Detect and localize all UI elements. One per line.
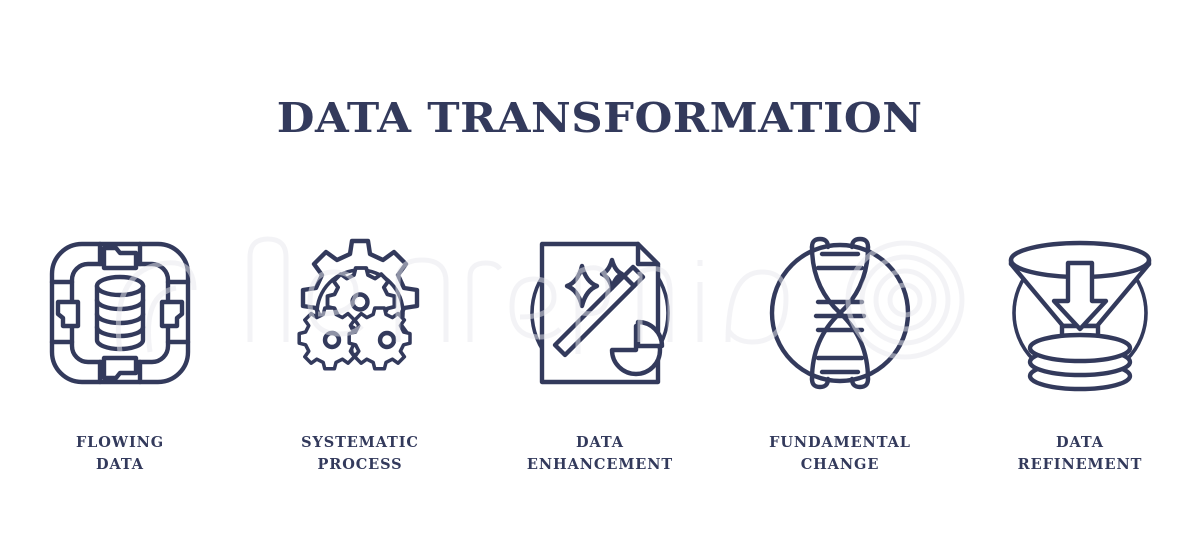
data-enhancement-magic-wand-document-icon [520, 230, 680, 395]
icon-row [0, 222, 1200, 402]
data-refinement-funnel-icon [1000, 230, 1160, 395]
flowing-data-icon [40, 230, 200, 395]
infographic-canvas: DATA TRANSFORMATION [0, 0, 1200, 540]
label-row: FLOWING DATA SYSTEMATIC PROCESS DATA ENH… [0, 432, 1200, 477]
label-line-1: FLOWING [0, 432, 240, 454]
title-container: DATA TRANSFORMATION [0, 98, 1200, 139]
item-data-refinement[interactable] [960, 222, 1200, 402]
label-flowing-data: FLOWING DATA [0, 432, 240, 477]
label-line-1: FUNDAMENTAL [720, 432, 960, 454]
item-systematic-process[interactable] [240, 222, 480, 402]
label-line-2: ENHANCEMENT [480, 454, 720, 476]
label-line-2: REFINEMENT [960, 454, 1200, 476]
item-fundamental-change[interactable] [720, 222, 960, 402]
page-title: DATA TRANSFORMATION [277, 98, 923, 139]
label-data-refinement: DATA REFINEMENT [960, 432, 1200, 477]
label-line-1: DATA [480, 432, 720, 454]
item-data-enhancement[interactable] [480, 222, 720, 402]
label-line-2: PROCESS [240, 454, 480, 476]
systematic-process-gears-icon [280, 230, 440, 395]
label-line-1: DATA [960, 432, 1200, 454]
item-flowing-data[interactable] [0, 222, 240, 402]
label-systematic-process: SYSTEMATIC PROCESS [240, 432, 480, 477]
label-fundamental-change: FUNDAMENTAL CHANGE [720, 432, 960, 477]
label-data-enhancement: DATA ENHANCEMENT [480, 432, 720, 477]
fundamental-change-dna-helix-icon [760, 230, 920, 395]
label-line-2: DATA [0, 454, 240, 476]
label-line-2: CHANGE [720, 454, 960, 476]
label-line-1: SYSTEMATIC [240, 432, 480, 454]
